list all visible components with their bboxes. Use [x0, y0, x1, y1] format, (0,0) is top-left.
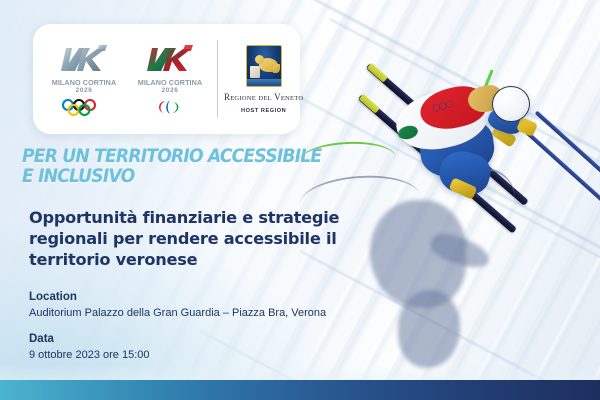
milano-cortina-26-mark-paralympic	[141, 41, 199, 77]
milano-cortina-olympic-logo: MILANO CORTINA 2026	[41, 41, 127, 117]
poster-kicker: PER UN TERRITORIO ACCESSIBILE E INCLUSIV…	[22, 147, 329, 187]
veneto-name-del: DEL	[258, 95, 271, 102]
crest-lion-tail	[273, 64, 280, 73]
milano-cortina-paralympic-logo: MILANO CORTINA 2026	[127, 41, 213, 117]
milano-cortina-26-mark-olympic	[55, 41, 113, 77]
crest-ground	[247, 79, 281, 86]
veneto-name-v: V	[274, 92, 281, 102]
location-label: Location	[29, 290, 359, 305]
details-spacer	[29, 321, 359, 332]
paralympic-wordmark-text: MILANO CORTINA	[138, 78, 202, 87]
olympic-rings-icon	[59, 99, 109, 117]
olympic-wordmark-text: MILANO CORTINA	[52, 78, 116, 87]
bottom-fade	[0, 364, 600, 380]
host-region-label: HOST REGION	[241, 108, 286, 114]
event-poster: ◯◯◯	[0, 0, 600, 400]
regione-veneto-wordmark: REGIONE DEL VENETO	[224, 92, 303, 102]
olympic-wordmark-year: 2026	[52, 87, 116, 95]
paralympic-agitos-icon	[154, 99, 186, 117]
date-value: 9 ottobre 2023 ore 15:00	[29, 348, 359, 363]
bottom-accent-bar	[0, 380, 600, 400]
veneto-name-egione: EGIONE	[230, 95, 256, 102]
location-value: Auditorium Palazzo della Gran Guardia – …	[29, 306, 359, 321]
olympic-wordmark: MILANO CORTINA 2026	[52, 79, 116, 95]
crest-lion-head	[255, 55, 264, 64]
paralympic-wordmark-year: 2026	[138, 87, 202, 95]
regione-veneto-logo: REGIONE DEL VENETO HOST REGION	[224, 45, 309, 114]
games-logo-group: MILANO CORTINA 2026	[33, 41, 213, 117]
poster-headline: Opportunità finanziarie e strategie regi…	[29, 207, 359, 270]
veneto-name-eneto: ENETO	[281, 95, 304, 102]
logo-divider	[217, 40, 218, 118]
lion-of-saint-mark-crest-icon	[246, 45, 282, 87]
date-label: Data	[29, 332, 359, 347]
paralympic-wordmark: MILANO CORTINA 2026	[138, 79, 202, 95]
logo-card: MILANO CORTINA 2026	[33, 24, 300, 134]
crest-book	[250, 66, 260, 78]
poster-details: Location Auditorium Palazzo della Gran G…	[29, 290, 359, 363]
